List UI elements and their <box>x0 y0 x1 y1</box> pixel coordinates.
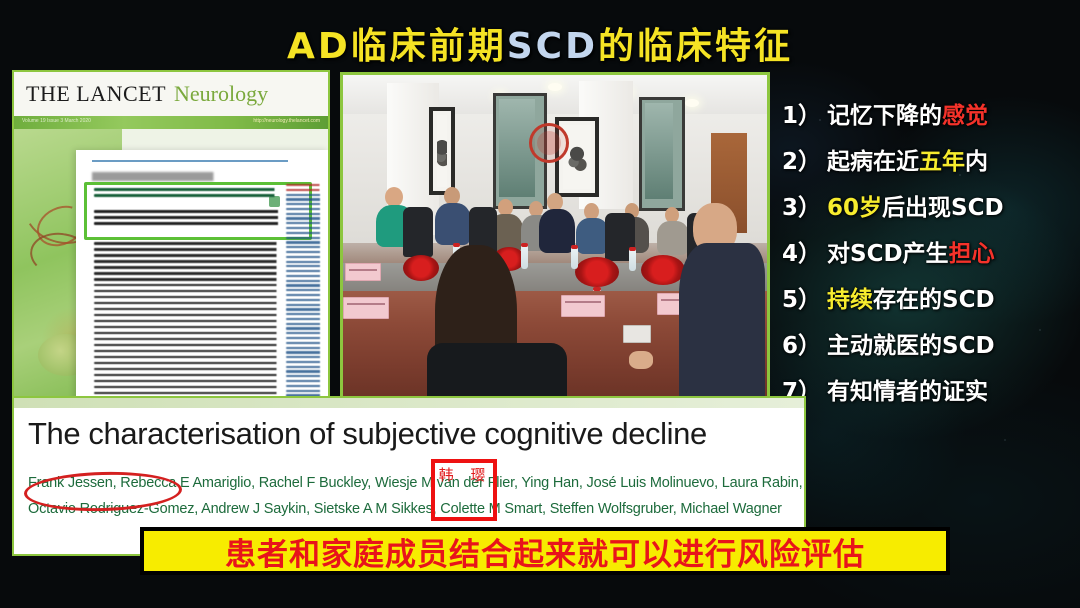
list-item: 2）起病在近五年内 <box>782 142 1078 176</box>
paper-top-strip <box>14 398 804 408</box>
photo-water-bottle <box>629 247 636 271</box>
yellow-caption-text: 患者和家庭成员结合起来就可以进行风险评估 <box>225 529 865 574</box>
photo-window-glass <box>645 103 673 199</box>
list-item: 7）有知情者的证实 <box>782 372 1078 406</box>
paper-authors-line-2: Octavio Rodriguez-Gomez, Andrew J Saykin… <box>28 496 796 522</box>
photo-poinsettia <box>641 255 685 285</box>
paper-title: The characterisation of subjective cogni… <box>28 416 794 452</box>
list-item-text-pre: 有知情者的证实 <box>827 372 988 406</box>
list-item-text-post: 后出现SCD <box>882 188 1004 222</box>
clinical-features-list: 1）记忆下降的感觉 2）起病在近五年内 3）60岁后出现SCD 4）对SCD产生… <box>782 96 1078 418</box>
slide-title-band: AD临床前期SCD的临床特征 <box>0 18 1080 68</box>
photo-foreground-person-body <box>679 243 765 402</box>
list-item-text-pre: 记忆下降的 <box>827 96 942 130</box>
photo-name-card <box>561 295 605 317</box>
slide-title-part-1: AD临床前期 <box>287 26 507 67</box>
article-abstract-lines <box>94 210 282 230</box>
list-item-number: 6） <box>782 326 821 360</box>
article-margin-notes <box>286 184 324 400</box>
journal-masthead: THE LANCET Neurology <box>14 72 328 117</box>
photo-chair <box>403 207 433 257</box>
journal-issue-info: Volume 19 Issue 3 March 2020 <box>22 118 91 124</box>
list-item-highlight: 持续 <box>827 280 873 314</box>
paper-author-list: Frank Jessen, Rebecca E Amariglio, Rache… <box>28 470 796 522</box>
journal-masthead-main: THE LANCET <box>26 81 166 107</box>
photo-person-head <box>385 187 403 207</box>
yellow-caption-banner: 患者和家庭成员结合起来就可以进行风险评估 <box>140 527 950 575</box>
slide-root: AD临床前期SCD的临床特征 THE LANCET Neurology Volu… <box>0 0 1080 608</box>
list-item-number: 4） <box>782 234 821 268</box>
paper-authors-line-1: Frank Jessen, Rebecca E Amariglio, Rache… <box>28 475 806 491</box>
list-item: 1）记忆下降的感觉 <box>782 96 1078 130</box>
list-item: 3）60岁后出现SCD <box>782 188 1078 222</box>
slide-title-part-2: SCD <box>507 26 598 67</box>
list-item: 4）对SCD产生担心 <box>782 234 1078 268</box>
photo-name-card <box>343 297 389 319</box>
list-item-text-pre: 主动就医的SCD <box>827 326 995 360</box>
photo-room <box>343 75 767 399</box>
article-body-column-left <box>94 242 282 400</box>
list-item-text-pre: 起病在近 <box>827 142 919 176</box>
journal-article-page <box>76 150 328 406</box>
photo-wall-art <box>429 107 455 195</box>
photo-person-body <box>435 203 471 245</box>
slide-title: AD临床前期SCD的临床特征 <box>287 17 793 69</box>
list-item-number: 2） <box>782 142 821 176</box>
list-item-highlight: 60岁 <box>827 188 882 222</box>
conference-room-photo <box>340 72 770 402</box>
photo-red-seal-icon <box>529 123 569 163</box>
list-item-highlight: 担心 <box>949 234 995 268</box>
journal-article-image: THE LANCET Neurology Volume 19 Issue 3 M… <box>12 70 330 408</box>
ceiling-light-icon <box>548 83 562 91</box>
photo-foreground-chair <box>427 343 567 402</box>
list-item: 6）主动就医的SCD <box>782 326 1078 360</box>
journal-issue-stripe: Volume 19 Issue 3 March 2020 http://neur… <box>14 116 328 129</box>
photo-paper-sheet <box>623 325 651 343</box>
list-item-text-post: 存在的SCD <box>873 280 995 314</box>
photo-foreground-person-hand <box>629 351 653 369</box>
photo-poinsettia <box>575 257 619 287</box>
photo-water-bottle <box>521 243 528 269</box>
article-top-rule <box>92 160 288 162</box>
list-item: 5）持续存在的SCD <box>782 280 1078 314</box>
journal-masthead-sub: Neurology <box>174 81 268 107</box>
chinese-name-annotation: 韩 璎 <box>437 464 493 485</box>
list-item-text-pre: 对SCD产生 <box>827 234 949 268</box>
photo-poinsettia <box>403 255 439 281</box>
slide-title-part-3: 的临床特征 <box>598 26 793 67</box>
photo-water-bottle <box>571 245 578 269</box>
journal-website-url: http://neurology.thelancet.com <box>253 118 320 124</box>
article-title-placeholder <box>92 172 288 181</box>
photo-name-card <box>345 263 381 281</box>
list-item-number: 5） <box>782 280 821 314</box>
photo-person-body <box>539 209 575 253</box>
photo-person-body <box>657 221 689 255</box>
list-item-highlight: 感觉 <box>942 96 988 130</box>
ceiling-light-icon <box>685 99 699 107</box>
list-item-text-post: 内 <box>965 142 988 176</box>
list-item-highlight: 五年 <box>919 142 965 176</box>
list-item-number: 1） <box>782 96 821 130</box>
list-item-number: 3） <box>782 188 821 222</box>
article-author-lines <box>94 188 282 204</box>
